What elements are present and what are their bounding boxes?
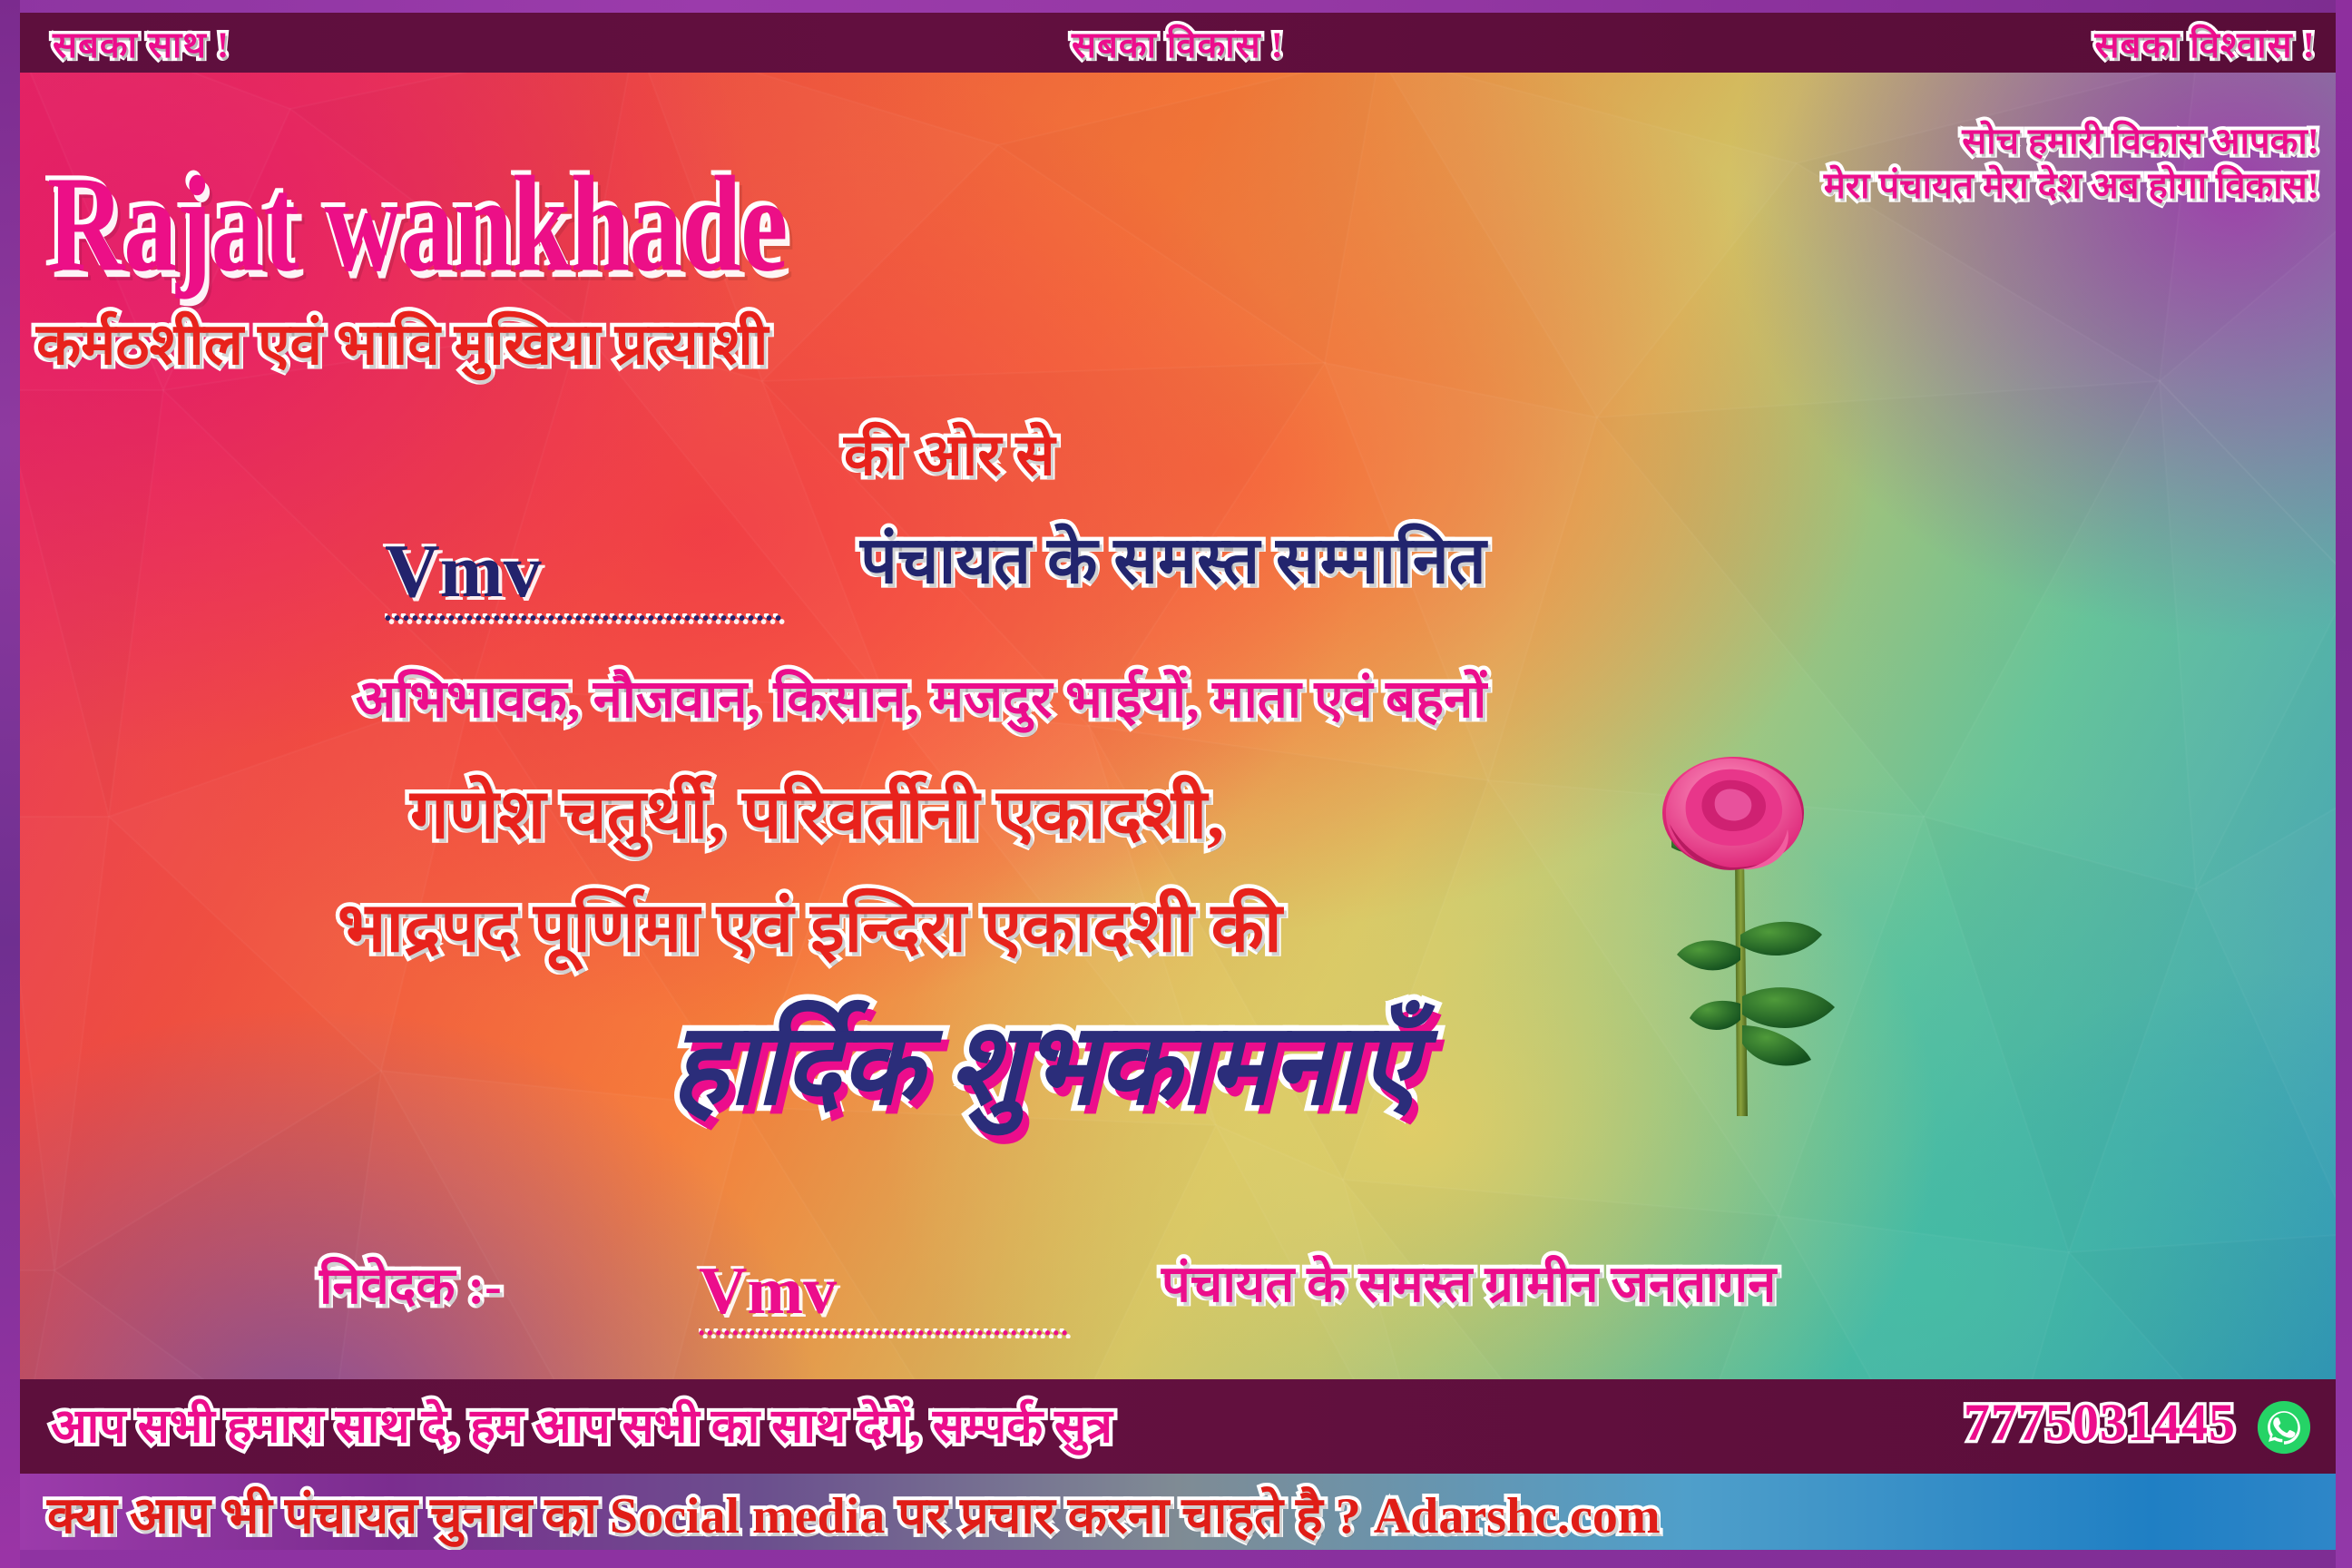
brand-logo-top: Vmv ••••••••••••••••••••••••••••••••••••… — [385, 534, 838, 624]
tagline-line-2: मेरा पंचायत मेरा देश अब होगा विकास! — [1824, 164, 2319, 209]
slogan-banner: सबका साथ ! सबका विकास ! सबका विश्वास ! — [20, 13, 2336, 73]
candidate-designation: कर्मठशील एवं भावि मुखिया प्रत्याशी — [36, 316, 768, 374]
brand-logo-bottom-text: Vmv — [699, 1258, 1125, 1325]
brand-logo-bottom-dots: ••••••••••••••••••••••••••••••••••••••••… — [699, 1328, 1125, 1338]
brand-logo-bottom: Vmv ••••••••••••••••••••••••••••••••••••… — [699, 1258, 1125, 1338]
candidate-name: Rajat wankhade — [47, 156, 787, 293]
tagline-block: सोच हमारी विकास आपका! मेरा पंचायत मेरा द… — [1824, 120, 2319, 209]
line-festivals-2: भाद्रपद पूर्णिमा एवं इन्दिरा एकादशी की — [338, 894, 1282, 963]
rose-flower-icon — [1633, 753, 1951, 1134]
contact-phone[interactable]: 7775031445 — [1964, 1392, 2236, 1453]
nivedak-label: निवेदक :- — [319, 1261, 502, 1312]
contact-message: आप सभी हमारा साथ दे, हम आप सभी का साथ दे… — [51, 1392, 1112, 1456]
line-audience: अभिभावक, नौजवान, किसान, मजदुर भाईयों, मा… — [356, 673, 1486, 726]
from-label: की ओर से — [844, 426, 1055, 485]
nivedak-value: पंचायत के समस्त ग्रामीन जनतागन — [1161, 1259, 1776, 1310]
brand-logo-top-text: Vmv — [385, 534, 838, 610]
promo-banner: क्या आप भी पंचायत चुनाव का Social media … — [20, 1474, 2336, 1552]
contact-banner: आप सभी हमारा साथ दे, हम आप सभी का साथ दे… — [20, 1379, 2336, 1474]
slogan-sabka-vikas: सबका विकास ! — [1072, 18, 1284, 68]
slogan-sabka-vishwas: सबका विश्वास ! — [2094, 18, 2316, 68]
whatsapp-icon[interactable] — [2256, 1399, 2312, 1455]
poster-canvas: सबका साथ ! सबका विकास ! सबका विश्वास ! स… — [0, 0, 2352, 1568]
frame-border-right — [2336, 0, 2352, 1568]
line-panchayat-samman: पंचायत के समस्त सम्मानित — [860, 528, 1486, 593]
brand-logo-top-dots: ••••••••••••••••••••••••••••••••••••••••… — [385, 613, 838, 624]
greeting-headline: हार्दिक शुभकामनाएँ — [671, 1009, 1418, 1122]
bottom-frame-strip — [0, 1550, 2352, 1568]
promo-message[interactable]: क्या आप भी पंचायत चुनाव का Social media … — [47, 1479, 1660, 1548]
tagline-line-1: सोच हमारी विकास आपका! — [1824, 120, 2319, 164]
slogan-sabka-saath: सबका साथ ! — [53, 18, 230, 68]
frame-border-left — [0, 0, 20, 1568]
line-festivals-1: गणेश चतुर्थी, परिवर्तीनी एकादशी, — [410, 780, 1224, 849]
